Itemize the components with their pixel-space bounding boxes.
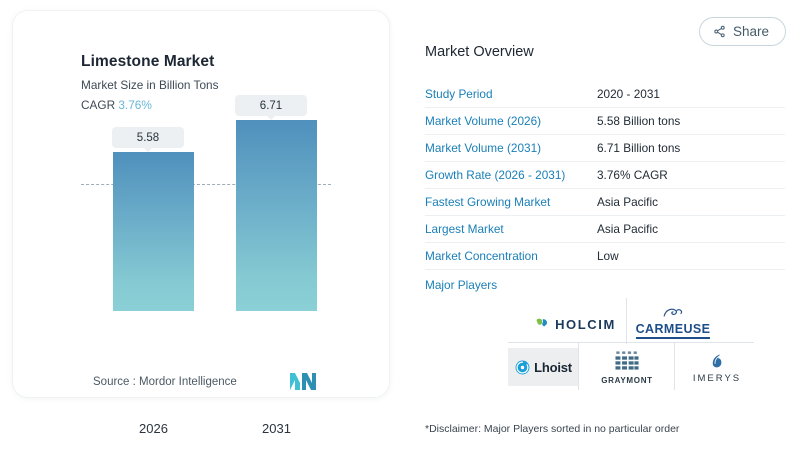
player-name: GRAYMONT — [601, 376, 653, 385]
table-row: Market Volume (2026) 5.58 Billion tons — [425, 108, 785, 135]
row-key: Largest Market — [425, 222, 597, 236]
holcim-icon — [534, 316, 550, 332]
bars-container: 5.58 6.71 — [81, 121, 349, 311]
row-key: Growth Rate (2026 - 2031) — [425, 168, 597, 182]
row-value: 6.71 Billion tons — [597, 141, 680, 155]
row-key: Market Concentration — [425, 249, 597, 263]
chart-subtitle: Market Size in Billion Tons — [81, 78, 218, 92]
row-value: 3.76% CAGR — [597, 168, 668, 182]
chart-cagr-label: CAGR — [81, 98, 115, 112]
row-value: Asia Pacific — [597, 195, 658, 209]
chart-cagr: CAGR 3.76% — [81, 98, 152, 112]
source-label: Source : Mordor Intelligence — [93, 376, 237, 388]
row-key: Fastest Growing Market — [425, 195, 597, 209]
chart-title: Limestone Market — [81, 53, 214, 71]
player-logo-lhoist[interactable]: Lhoist — [508, 348, 578, 386]
bar-2026[interactable] — [113, 152, 194, 311]
table-row: Market Volume (2031) 6.71 Billion tons — [425, 135, 785, 162]
grid-divider — [626, 298, 627, 344]
table-row: Market Concentration Low — [425, 243, 785, 270]
table-row: Study Period 2020 - 2031 — [425, 81, 785, 108]
market-overview-panel: Market Overview Study Period 2020 - 2031… — [425, 44, 785, 300]
graymont-icon — [613, 348, 641, 373]
player-name: HOLCIM — [555, 317, 616, 332]
carmeuse-icon — [661, 306, 685, 321]
lhoist-icon — [514, 359, 531, 376]
bar-chart-plot: 5.58 6.71 2026 2031 — [13, 121, 391, 346]
share-button[interactable]: Share — [699, 17, 786, 46]
x-axis-tick-2031: 2031 — [236, 421, 317, 436]
player-name: CARMEUSE — [636, 322, 711, 339]
grid-divider — [674, 342, 675, 390]
bar-2031[interactable] — [236, 120, 317, 311]
imerys-icon — [709, 353, 726, 370]
chart-card: Limestone Market Market Size in Billion … — [12, 10, 390, 398]
market-report-page: Share Limestone Market Market Size in Bi… — [0, 0, 800, 459]
mordor-intelligence-logo — [290, 373, 316, 395]
row-value: Low — [597, 249, 619, 263]
player-logo-graymont[interactable]: GRAYMONT — [580, 342, 674, 390]
share-icon — [713, 25, 726, 38]
row-key: Market Volume (2026) — [425, 114, 597, 128]
overview-title: Market Overview — [425, 44, 785, 60]
row-value: 2020 - 2031 — [597, 87, 660, 101]
x-axis-labels: 2026 2031 — [81, 421, 349, 441]
row-value: Asia Pacific — [597, 222, 658, 236]
grid-divider — [578, 342, 579, 390]
bar-value-label-2031: 6.71 — [235, 95, 307, 116]
player-name: Lhoist — [534, 360, 572, 375]
bar-value-label-2026: 5.58 — [112, 127, 184, 148]
x-axis-tick-2026: 2026 — [113, 421, 194, 436]
row-key: Market Volume (2031) — [425, 141, 597, 155]
share-button-label: Share — [733, 24, 769, 39]
player-name: IMERYS — [693, 373, 741, 384]
row-value: 5.58 Billion tons — [597, 114, 680, 128]
player-logo-carmeuse[interactable]: CARMEUSE — [630, 300, 716, 344]
row-key: Study Period — [425, 87, 597, 101]
major-players-header: Major Players — [425, 270, 785, 300]
table-row: Fastest Growing Market Asia Pacific — [425, 189, 785, 216]
disclaimer-text: *Disclaimer: Major Players sorted in no … — [425, 423, 679, 435]
player-logo-holcim[interactable]: HOLCIM — [526, 304, 624, 344]
table-row: Growth Rate (2026 - 2031) 3.76% CAGR — [425, 162, 785, 189]
player-logo-imerys[interactable]: IMERYS — [680, 348, 754, 388]
chart-cagr-value: 3.76% — [118, 98, 151, 112]
major-players-label: Major Players — [425, 278, 597, 292]
table-row: Largest Market Asia Pacific — [425, 216, 785, 243]
major-players-logo-grid: HOLCIM CARMEUSE Lhoist — [508, 298, 753, 390]
